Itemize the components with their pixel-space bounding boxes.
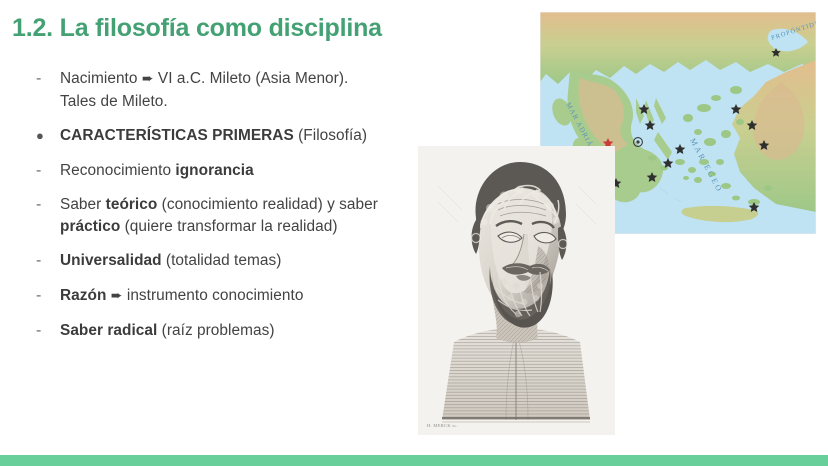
emphasis-text: Saber radical [60, 322, 157, 339]
arrow-right-icon: ➨ [111, 288, 123, 304]
list-item-text: Universalidad (totalidad temas) [60, 250, 384, 272]
slide-canvas: 1.2. La filosofía como disciplina -Nacim… [0, 0, 828, 466]
arrow-right-icon: ➨ [142, 71, 154, 87]
emphasis-text: Universalidad [60, 252, 162, 269]
plain-text: (raíz problemas) [157, 322, 274, 339]
plain-text: Reconocimiento [60, 162, 175, 179]
bottom-accent-bar [0, 455, 828, 466]
bullet-marker-dash-icon: - [34, 320, 60, 341]
bullet-marker-dash-icon: - [34, 194, 60, 215]
emphasis-text: Razón [60, 287, 111, 304]
list-item-text: Saber teórico (conocimiento realidad) y … [60, 194, 384, 237]
plain-text: instrumento conocimiento [123, 287, 304, 304]
emphasis-text: práctico [60, 218, 120, 235]
bullet-marker-dash-icon: - [34, 285, 60, 306]
engraving-bust-of-thales: H. MERCK sc. [418, 146, 615, 435]
list-item: -Reconocimiento ignorancia [34, 160, 384, 182]
plain-text: Nacimiento [60, 70, 142, 87]
emphasis-text: ignorancia [175, 162, 253, 179]
bullet-marker-dash-icon: - [34, 160, 60, 181]
bullet-list: -Nacimiento ➨ VI a.C. Mileto (Asia Menor… [34, 68, 384, 355]
list-item: -Razón ➨ instrumento conocimiento [34, 285, 384, 308]
list-item: -Saber teórico (conocimiento realidad) y… [34, 194, 384, 237]
emphasis-text: CARACTERÍSTICAS PRIMERAS [60, 127, 294, 144]
list-item-text: Nacimiento ➨ VI a.C. Mileto (Asia Menor)… [60, 68, 384, 112]
emphasis-text: teórico [106, 196, 158, 213]
bullet-marker-dot-icon: ● [34, 125, 60, 146]
plain-text: Saber [60, 196, 106, 213]
plain-text: (Filosofía) [294, 127, 367, 144]
list-item: -Saber radical (raíz problemas) [34, 320, 384, 342]
list-item-text: Razón ➨ instrumento conocimiento [60, 285, 384, 308]
list-item-text: CARACTERÍSTICAS PRIMERAS (Filosofía) [60, 125, 384, 147]
list-item-text: Saber radical (raíz problemas) [60, 320, 384, 342]
page-title: 1.2. La filosofía como disciplina [12, 14, 382, 43]
bullet-marker-dash-icon: - [34, 250, 60, 271]
bust-graphic [418, 146, 615, 435]
list-item: ●CARACTERÍSTICAS PRIMERAS (Filosofía) [34, 125, 384, 147]
plain-text: (quiere transformar la realidad) [120, 218, 337, 235]
plain-text: (conocimiento realidad) y saber [157, 196, 378, 213]
plain-text: (totalidad temas) [162, 252, 282, 269]
list-item: -Universalidad (totalidad temas) [34, 250, 384, 272]
list-item-text: Reconocimiento ignorancia [60, 160, 384, 182]
bullet-marker-dash-icon: - [34, 68, 60, 89]
engraving-signature: H. MERCK sc. [427, 423, 458, 428]
list-item: -Nacimiento ➨ VI a.C. Mileto (Asia Menor… [34, 68, 384, 112]
